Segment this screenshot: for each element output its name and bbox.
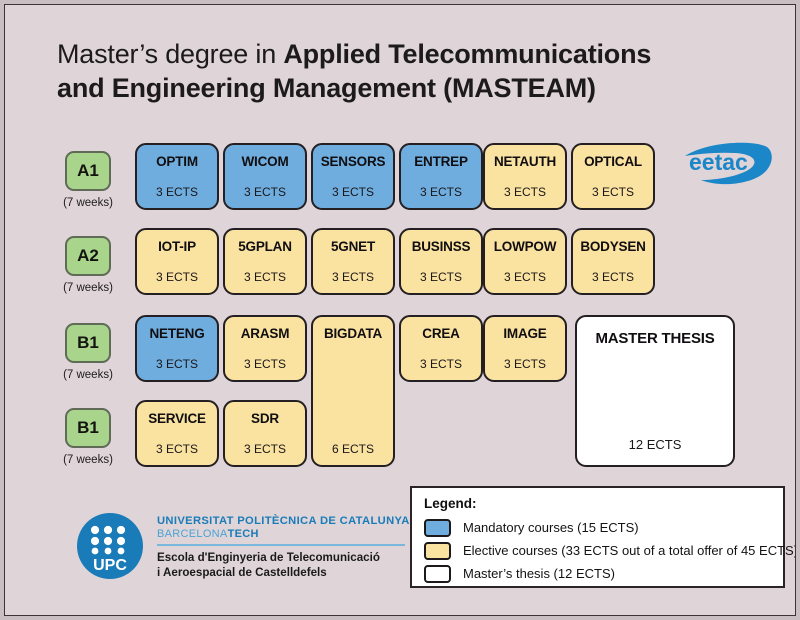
course-card-sensors[interactable]: SENSORS 3 ECTS xyxy=(311,143,395,210)
term-label-b1-second: B1 (7 weeks) xyxy=(57,408,119,466)
upc-text-block: UNIVERSITAT POLITÈCNICA DE CATALUNYA BAR… xyxy=(157,515,407,580)
course-code: IOT-IP xyxy=(158,239,196,254)
course-code: OPTIM xyxy=(156,154,198,169)
upc-school-line-1: Escola d'Enginyeria de Telecomunicació xyxy=(157,551,380,564)
eetac-logo-icon: eetac xyxy=(677,136,777,196)
course-code: ARASM xyxy=(241,326,290,341)
upc-logo-mark: UPC xyxy=(77,513,143,579)
course-card-wicom[interactable]: WICOM 3 ECTS xyxy=(223,143,307,210)
course-card-netauth[interactable]: NETAUTH 3 ECTS xyxy=(483,143,567,210)
course-code: SDR xyxy=(251,411,279,426)
legend-label-mandatory: Mandatory courses (15 ECTS) xyxy=(463,520,639,535)
page-title-light: Master’s degree in xyxy=(57,39,283,69)
course-code: LOWPOW xyxy=(494,239,557,254)
upc-circle-icon: UPC xyxy=(77,513,143,579)
course-code: CREA xyxy=(422,326,459,341)
term-duration-a1: (7 weeks) xyxy=(57,197,119,209)
course-ects: 3 ECTS xyxy=(332,185,374,199)
legend-item-elective: Elective courses (33 ECTS out of a total… xyxy=(424,539,783,562)
term-duration-b1-second: (7 weeks) xyxy=(57,454,119,466)
eetac-logo: eetac xyxy=(677,136,777,196)
course-code: OPTICAL xyxy=(584,154,642,169)
course-card-businss[interactable]: BUSINSS 3 ECTS xyxy=(399,228,483,295)
upc-school-line-2: i Aeroespacial de Castelldefels xyxy=(157,566,327,579)
term-duration-a2: (7 weeks) xyxy=(57,282,119,294)
course-ects: 3 ECTS xyxy=(504,357,546,371)
legend-item-mandatory: Mandatory courses (15 ECTS) xyxy=(424,516,783,539)
course-card-iot-ip[interactable]: IOT-IP 3 ECTS xyxy=(135,228,219,295)
course-ects: 3 ECTS xyxy=(244,270,286,284)
course-ects: 6 ECTS xyxy=(332,442,374,456)
course-code: NETAUTH xyxy=(494,154,556,169)
legend-item-thesis: Master’s thesis (12 ECTS) xyxy=(424,562,783,585)
upc-dot-grid-icon xyxy=(91,526,125,555)
course-ects: 3 ECTS xyxy=(156,442,198,456)
course-code: SENSORS xyxy=(321,154,386,169)
course-ects: 3 ECTS xyxy=(592,185,634,199)
term-label-b1-first: B1 (7 weeks) xyxy=(57,323,119,381)
legend-swatch-thesis-icon xyxy=(424,565,451,583)
course-code: ENTREP xyxy=(414,154,468,169)
course-ects: 3 ECTS xyxy=(156,357,198,371)
legend-swatch-mandatory-icon xyxy=(424,519,451,537)
course-card-sdr[interactable]: SDR 3 ECTS xyxy=(223,400,307,467)
course-ects: 3 ECTS xyxy=(332,270,374,284)
course-card-crea[interactable]: CREA 3 ECTS xyxy=(399,315,483,382)
course-code: BUSINSS xyxy=(412,239,471,254)
legend-label-thesis: Master’s thesis (12 ECTS) xyxy=(463,566,615,581)
course-code: WICOM xyxy=(242,154,289,169)
course-code: SERVICE xyxy=(148,411,206,426)
upc-school-name: Escola d'Enginyeria de Telecomunicació i… xyxy=(157,551,407,580)
page-title-bold-1: Applied Telecommunications xyxy=(283,39,651,69)
course-ects: 3 ECTS xyxy=(420,357,462,371)
term-duration-b1-first: (7 weeks) xyxy=(57,369,119,381)
upc-brand: BARCELONATECH xyxy=(157,528,407,540)
term-badge-a1: A1 xyxy=(65,151,111,191)
course-ects: 3 ECTS xyxy=(156,270,198,284)
eetac-wordmark: eetac xyxy=(689,149,748,175)
course-card-5gplan[interactable]: 5GPLAN 3 ECTS xyxy=(223,228,307,295)
course-ects: 3 ECTS xyxy=(420,185,462,199)
upc-logo-block: UPC UNIVERSITAT POLITÈCNICA DE CATALUNYA… xyxy=(77,511,407,583)
course-code: NETENG xyxy=(149,326,204,341)
course-ects: 3 ECTS xyxy=(504,270,546,284)
page-title-bold-2: and Engineering Management (MASTEAM) xyxy=(57,73,596,103)
term-badge-a2: A2 xyxy=(65,236,111,276)
course-card-optim[interactable]: OPTIM 3 ECTS xyxy=(135,143,219,210)
course-ects: 3 ECTS xyxy=(420,270,462,284)
legend-swatch-elective-icon xyxy=(424,542,451,560)
poster-canvas: Master’s degree in Applied Telecommunica… xyxy=(4,4,796,616)
upc-brand-prefix: BARCELONA xyxy=(157,528,228,540)
term-label-a1: A1 (7 weeks) xyxy=(57,151,119,209)
legend-box: Legend: Mandatory courses (15 ECTS) Elec… xyxy=(410,486,785,588)
thesis-ects: 12 ECTS xyxy=(629,437,682,452)
course-card-5gnet[interactable]: 5GNET 3 ECTS xyxy=(311,228,395,295)
course-code: BODYSEN xyxy=(580,239,645,254)
course-card-entrep[interactable]: ENTREP 3 ECTS xyxy=(399,143,483,210)
course-code: IMAGE xyxy=(503,326,546,341)
term-badge-b1-first: B1 xyxy=(65,323,111,363)
page-title: Master’s degree in Applied Telecommunica… xyxy=(57,37,747,105)
course-ects: 3 ECTS xyxy=(156,185,198,199)
course-card-lowpow[interactable]: LOWPOW 3 ECTS xyxy=(483,228,567,295)
legend-label-elective: Elective courses (33 ECTS out of a total… xyxy=(463,543,796,558)
course-code: 5GNET xyxy=(331,239,375,254)
course-card-image[interactable]: IMAGE 3 ECTS xyxy=(483,315,567,382)
course-ects: 3 ECTS xyxy=(504,185,546,199)
course-ects: 3 ECTS xyxy=(592,270,634,284)
course-card-arasm[interactable]: ARASM 3 ECTS xyxy=(223,315,307,382)
upc-divider xyxy=(157,544,405,546)
course-ects: 3 ECTS xyxy=(244,442,286,456)
thesis-title: MASTER THESIS xyxy=(595,330,714,347)
upc-university-name: UNIVERSITAT POLITÈCNICA DE CATALUNYA xyxy=(157,515,407,527)
term-badge-b1-second: B1 xyxy=(65,408,111,448)
term-label-a2: A2 (7 weeks) xyxy=(57,236,119,294)
course-code: 5GPLAN xyxy=(238,239,292,254)
course-ects: 3 ECTS xyxy=(244,357,286,371)
course-card-master-thesis[interactable]: MASTER THESIS 12 ECTS xyxy=(575,315,735,467)
course-card-bigdata[interactable]: BIGDATA 6 ECTS xyxy=(311,315,395,467)
course-card-neteng[interactable]: NETENG 3 ECTS xyxy=(135,315,219,382)
course-ects: 3 ECTS xyxy=(244,185,286,199)
course-code: BIGDATA xyxy=(324,326,382,341)
course-card-optical[interactable]: OPTICAL 3 ECTS xyxy=(571,143,655,210)
upc-brand-suffix: TECH xyxy=(228,528,259,540)
legend-title: Legend: xyxy=(424,496,783,511)
course-card-service[interactable]: SERVICE 3 ECTS xyxy=(135,400,219,467)
upc-mark-text: UPC xyxy=(93,557,127,574)
course-card-bodysen[interactable]: BODYSEN 3 ECTS xyxy=(571,228,655,295)
